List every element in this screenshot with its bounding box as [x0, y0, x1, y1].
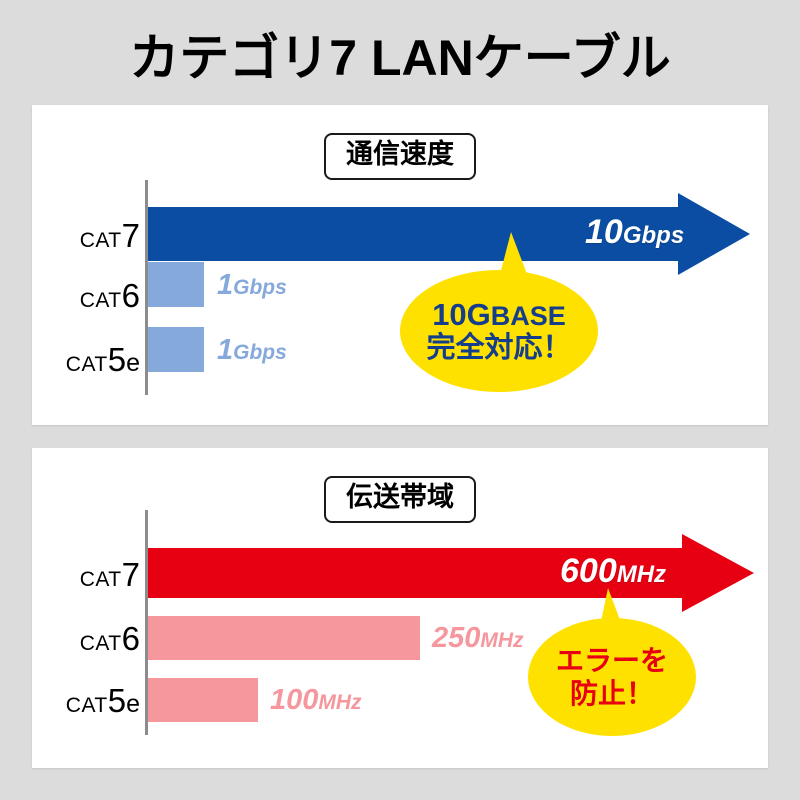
callout-10gbase: 10GBASE 完全対応！ — [400, 270, 598, 392]
bar-cat6-bandwidth — [148, 616, 420, 660]
row-label-cat5e-speed: CAT5e — [66, 341, 140, 379]
callout-10gbase-line2: 完全対応！ — [426, 333, 571, 363]
callout-error-line2: 防止！ — [570, 679, 654, 708]
bar-cat5e-speed — [148, 327, 204, 372]
bar-value-cat5e-speed: 1Gbps — [217, 334, 287, 367]
bar-cat5e-bandwidth — [148, 678, 258, 722]
bar-value-cat7-speed: 10Gbps — [585, 213, 684, 252]
page-title: カテゴリ7 LANケーブル — [0, 18, 800, 90]
callout-error-prevention: エラーを 防止！ — [528, 618, 696, 736]
bar-value-cat6-bandwidth: 250MHz — [432, 622, 524, 655]
callout-10gbase-line1: 10GBASE — [432, 299, 566, 332]
bar-value-cat7-bandwidth: 600MHz — [560, 552, 666, 591]
bar-value-cat6-speed: 1Gbps — [217, 269, 287, 302]
row-label-cat7-speed: CAT7 — [80, 217, 140, 255]
chart-communication-speed: CAT7 10Gbps CAT6 1Gbps CAT5e 1Gbps — [32, 105, 768, 425]
row-label-cat7-bandwidth: CAT7 — [80, 556, 140, 594]
panel-communication-speed: 通信速度 CAT7 10Gbps CAT6 1Gbps CAT5e 1Gbp — [32, 105, 768, 425]
row-label-cat6-speed: CAT6 — [80, 277, 140, 315]
row-label-cat5e-bandwidth: CAT5e — [66, 682, 140, 720]
bar-cat6-speed — [148, 262, 204, 307]
callout-error-line1: エラーを — [556, 646, 668, 675]
row-label-cat6-bandwidth: CAT6 — [80, 620, 140, 658]
bar-value-cat5e-bandwidth: 100MHz — [270, 684, 362, 717]
